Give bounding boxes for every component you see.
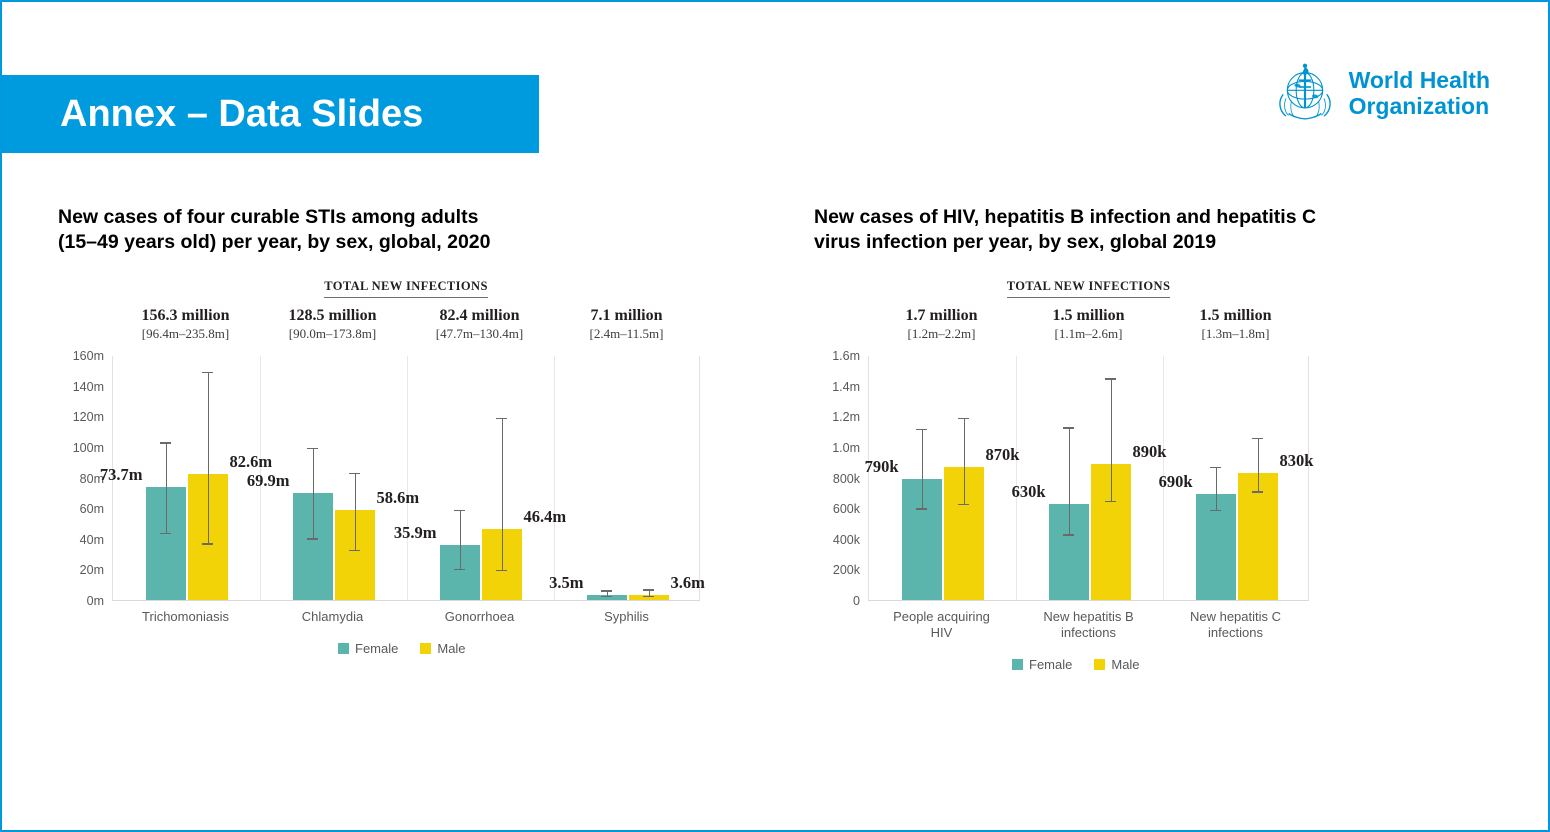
error-bar xyxy=(1258,439,1259,493)
error-bar-cap xyxy=(1210,510,1221,511)
total-range: [1.2m–2.2m] xyxy=(868,326,1015,342)
bar-value-label: 46.4m xyxy=(524,507,567,527)
total-range: [90.0m–173.8m] xyxy=(259,326,406,342)
error-bar xyxy=(460,511,461,570)
y-axis-tick-label: 400k xyxy=(833,533,860,547)
total-new-infections-cell: 1.5 million[1.1m–2.6m] xyxy=(1015,307,1162,342)
page-title: Annex – Data Slides xyxy=(60,93,423,136)
y-axis-tick-label: 140m xyxy=(73,380,104,394)
error-bar-cap xyxy=(1252,491,1263,492)
y-axis-tick-label: 160m xyxy=(73,349,104,363)
error-bar-cap xyxy=(160,533,171,534)
legend-label: Female xyxy=(1029,657,1072,672)
total-new-infections-cell: 156.3 million[96.4m–235.8m] xyxy=(112,307,259,342)
y-axis: 0200k400k600k800k1.0m1.2m1.4m1.6m xyxy=(814,356,860,601)
bar-value-label: 630k xyxy=(1012,482,1046,502)
bar-value-label: 69.9m xyxy=(247,471,290,491)
error-bar-cap xyxy=(307,538,318,539)
y-axis-tick-label: 120m xyxy=(73,410,104,424)
error-bar-cap xyxy=(643,589,654,590)
y-axis-tick-label: 200k xyxy=(833,563,860,577)
error-bar-cap xyxy=(1063,427,1074,428)
left-chart-panel: New cases of four curable STIs among adu… xyxy=(58,205,758,671)
y-axis-tick-label: 100m xyxy=(73,441,104,455)
plot-area: 73.7m82.6m69.9m58.6m35.9m46.4m3.5m3.6m xyxy=(112,356,700,601)
y-axis-tick-label: 1.2m xyxy=(832,410,860,424)
legend-label: Male xyxy=(1111,657,1139,672)
right-chart-legend: FemaleMale xyxy=(1012,657,1140,672)
who-logo: World Health Organization xyxy=(1271,59,1490,127)
error-bar-cap xyxy=(601,596,612,597)
y-axis-tick-label: 20m xyxy=(80,563,104,577)
error-bar-cap xyxy=(958,504,969,505)
legend-item[interactable]: Male xyxy=(420,641,465,656)
y-axis-tick-label: 1.6m xyxy=(832,349,860,363)
total-new-infections-cell: 128.5 million[90.0m–173.8m] xyxy=(259,307,406,342)
error-bar-cap xyxy=(202,543,213,544)
y-axis-tick-label: 0m xyxy=(87,594,104,608)
legend-label: Female xyxy=(355,641,398,656)
left-bar-chart: 0m20m40m60m80m100m120m140m160m73.7m82.6m… xyxy=(58,356,758,671)
y-axis-tick-label: 1.4m xyxy=(832,380,860,394)
total-value: 1.7 million xyxy=(868,307,1015,325)
bar-value-label: 35.9m xyxy=(394,523,437,543)
category-separator xyxy=(554,356,555,600)
y-axis-tick-label: 600k xyxy=(833,502,860,516)
who-wordmark: World Health Organization xyxy=(1349,67,1490,119)
y-axis-tick-label: 800k xyxy=(833,472,860,486)
left-totals-row: 156.3 million[96.4m–235.8m]128.5 million… xyxy=(58,307,758,342)
total-range: [2.4m–11.5m] xyxy=(553,326,700,342)
x-axis-category-label: People acquiring HIV xyxy=(868,609,1015,641)
error-bar-cap xyxy=(307,448,318,449)
error-bar xyxy=(355,474,356,551)
total-value: 128.5 million xyxy=(259,307,406,325)
error-bar xyxy=(208,373,209,545)
total-new-infections-cell: 82.4 million[47.7m–130.4m] xyxy=(406,307,553,342)
total-range: [1.1m–2.6m] xyxy=(1015,326,1162,342)
total-new-infections-cell: 1.5 million[1.3m–1.8m] xyxy=(1162,307,1309,342)
left-totals-title: TOTAL NEW INFECTIONS xyxy=(324,279,488,298)
total-new-infections-cell: 7.1 million[2.4m–11.5m] xyxy=(553,307,700,342)
error-bar-cap xyxy=(1252,438,1263,439)
legend-item[interactable]: Male xyxy=(1094,657,1139,672)
left-totals-block: TOTAL NEW INFECTIONS 156.3 million[96.4m… xyxy=(58,277,758,342)
who-wordmark-line1: World Health xyxy=(1349,67,1490,93)
right-totals-title: TOTAL NEW INFECTIONS xyxy=(1007,279,1171,298)
legend-item[interactable]: Female xyxy=(1012,657,1072,672)
right-totals-block: TOTAL NEW INFECTIONS 1.7 million[1.2m–2.… xyxy=(814,277,1474,342)
right-bar-chart: 0200k400k600k800k1.0m1.2m1.4m1.6m790k870… xyxy=(814,356,1474,671)
category-separator xyxy=(1016,356,1017,600)
error-bar-cap xyxy=(916,429,927,430)
x-axis-category-label: Chlamydia xyxy=(259,609,406,625)
error-bar-cap xyxy=(1105,378,1116,379)
bar-value-label: 870k xyxy=(986,445,1020,465)
total-range: [96.4m–235.8m] xyxy=(112,326,259,342)
error-bar-cap xyxy=(601,590,612,591)
error-bar xyxy=(964,419,965,505)
bar-value-label: 58.6m xyxy=(377,488,420,508)
slide-canvas: Annex – Data Slides xyxy=(0,0,1550,832)
error-bar-cap xyxy=(454,510,465,511)
bar-value-label: 3.6m xyxy=(671,573,705,593)
who-emblem-icon xyxy=(1271,59,1339,127)
x-axis-category-label: New hepatitis C infections xyxy=(1162,609,1309,641)
x-axis-category-label: Trichomoniasis xyxy=(112,609,259,625)
error-bar-cap xyxy=(1063,534,1074,535)
error-bar xyxy=(166,444,167,534)
who-wordmark-line2: Organization xyxy=(1349,93,1490,119)
error-bar-cap xyxy=(496,570,507,571)
right-chart-panel: New cases of HIV, hepatitis B infection … xyxy=(814,205,1474,671)
legend-swatch-icon xyxy=(420,643,431,654)
x-axis-category-label: Gonorrhoea xyxy=(406,609,553,625)
error-bar-cap xyxy=(160,442,171,443)
error-bar-cap xyxy=(643,596,654,597)
error-bar xyxy=(502,419,503,571)
y-axis-tick-label: 0 xyxy=(853,594,860,608)
bar-value-label: 790k xyxy=(865,457,899,477)
bar-value-label: 3.5m xyxy=(549,573,583,593)
error-bar-cap xyxy=(454,569,465,570)
error-bar-cap xyxy=(916,508,927,509)
legend-swatch-icon xyxy=(338,643,349,654)
bar-value-label: 890k xyxy=(1133,442,1167,462)
bar-value-label: 73.7m xyxy=(100,465,143,485)
x-axis-category-label: Syphilis xyxy=(553,609,700,625)
error-bar-cap xyxy=(1105,501,1116,502)
error-bar xyxy=(922,430,923,510)
legend-swatch-icon xyxy=(1094,659,1105,670)
legend-label: Male xyxy=(437,641,465,656)
left-chart-heading: New cases of four curable STIs among adu… xyxy=(58,205,758,255)
category-separator xyxy=(407,356,408,600)
y-axis-tick-label: 1.0m xyxy=(832,441,860,455)
total-new-infections-cell: 1.7 million[1.2m–2.2m] xyxy=(868,307,1015,342)
error-bar xyxy=(1069,429,1070,536)
total-range: [47.7m–130.4m] xyxy=(406,326,553,342)
y-axis-tick-label: 40m xyxy=(80,533,104,547)
error-bar-cap xyxy=(202,372,213,373)
total-value: 82.4 million xyxy=(406,307,553,325)
error-bar xyxy=(1111,380,1112,503)
error-bar-cap xyxy=(349,473,360,474)
slide-title-banner: Annex – Data Slides xyxy=(2,75,539,153)
total-value: 1.5 million xyxy=(1015,307,1162,325)
right-chart-heading: New cases of HIV, hepatitis B infection … xyxy=(814,205,1474,255)
legend-swatch-icon xyxy=(1012,659,1023,670)
y-axis-tick-label: 60m xyxy=(80,502,104,516)
left-chart-legend: FemaleMale xyxy=(338,641,466,656)
legend-item[interactable]: Female xyxy=(338,641,398,656)
error-bar-cap xyxy=(1210,467,1221,468)
error-bar-cap xyxy=(958,418,969,419)
right-totals-row: 1.7 million[1.2m–2.2m]1.5 million[1.1m–2… xyxy=(814,307,1474,342)
total-value: 156.3 million xyxy=(112,307,259,325)
total-value: 7.1 million xyxy=(553,307,700,325)
error-bar-cap xyxy=(349,550,360,551)
error-bar xyxy=(1216,468,1217,511)
total-value: 1.5 million xyxy=(1162,307,1309,325)
error-bar-cap xyxy=(496,418,507,419)
bar-value-label: 82.6m xyxy=(230,452,273,472)
y-axis: 0m20m40m60m80m100m120m140m160m xyxy=(58,356,104,601)
total-range: [1.3m–1.8m] xyxy=(1162,326,1309,342)
error-bar xyxy=(313,449,314,539)
x-axis-category-label: New hepatitis B infections xyxy=(1015,609,1162,641)
bar-value-label: 690k xyxy=(1159,472,1193,492)
bar-value-label: 830k xyxy=(1280,451,1314,471)
plot-area: 790k870k630k890k690k830k xyxy=(868,356,1309,601)
